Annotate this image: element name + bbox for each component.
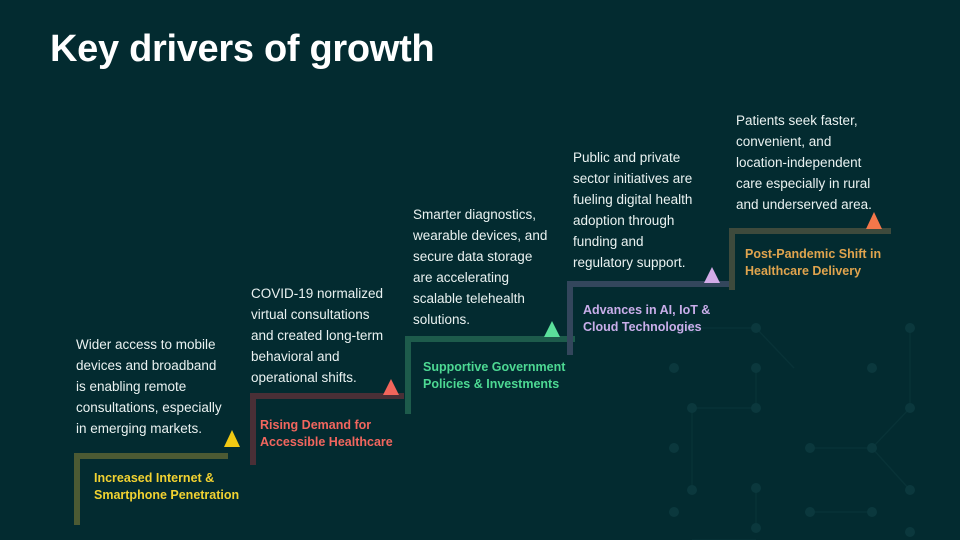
step-bracket-left-bar [250, 393, 256, 465]
step-label: Increased Internet & Smartphone Penetrat… [94, 470, 274, 504]
step-bracket-left-bar [567, 281, 573, 355]
step-bracket-top-bar [74, 453, 228, 459]
page-title: Key drivers of growth [50, 28, 434, 71]
step-label: Advances in AI, IoT & Cloud Technologies [583, 302, 763, 336]
step-bracket-left-bar [729, 228, 735, 290]
step-label: Post-Pandemic Shift in Healthcare Delive… [745, 246, 925, 280]
step-bracket-top-bar [250, 393, 404, 399]
step-description: Patients seek faster, convenient, and lo… [736, 110, 931, 215]
step-bracket-left-bar [405, 336, 411, 414]
step-label: Rising Demand for Accessible Healthcare [260, 417, 440, 451]
step-label: Supportive Government Policies & Investm… [423, 359, 608, 393]
slide-canvas: Key drivers of growth Wider access to mo… [0, 0, 960, 540]
step-bracket-left-bar [74, 453, 80, 525]
step-description: Wider access to mobile devices and broad… [76, 334, 266, 439]
